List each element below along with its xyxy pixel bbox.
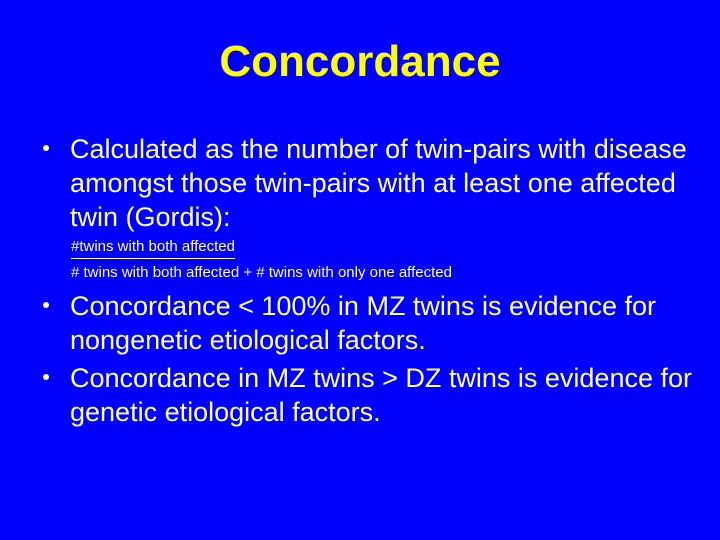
bullet-dot-icon: [43, 374, 49, 380]
formula-numerator: #twins with both affected: [71, 236, 235, 259]
bullet-dot-icon: [43, 145, 49, 151]
slide-canvas: Concordance Calculated as the number of …: [0, 0, 720, 540]
list-item-label: Calculated as the number of twin-pairs w…: [70, 132, 704, 234]
page-title: Concordance: [0, 36, 720, 88]
list-item-label: Concordance < 100% in MZ twins is eviden…: [70, 289, 704, 357]
concordance-formula: #twins with both affected # twins with b…: [71, 236, 704, 283]
slide-body: Calculated as the number of twin-pairs w…: [32, 132, 704, 429]
list-item: Calculated as the number of twin-pairs w…: [32, 132, 704, 234]
list-item: Concordance < 100% in MZ twins is eviden…: [32, 289, 704, 357]
bullet-dot-icon: [43, 302, 49, 308]
formula-denominator: # twins with both affected + # twins wit…: [71, 262, 704, 283]
list-item-label: Concordance in MZ twins > DZ twins is ev…: [70, 361, 704, 429]
list-item: Concordance in MZ twins > DZ twins is ev…: [32, 361, 704, 429]
